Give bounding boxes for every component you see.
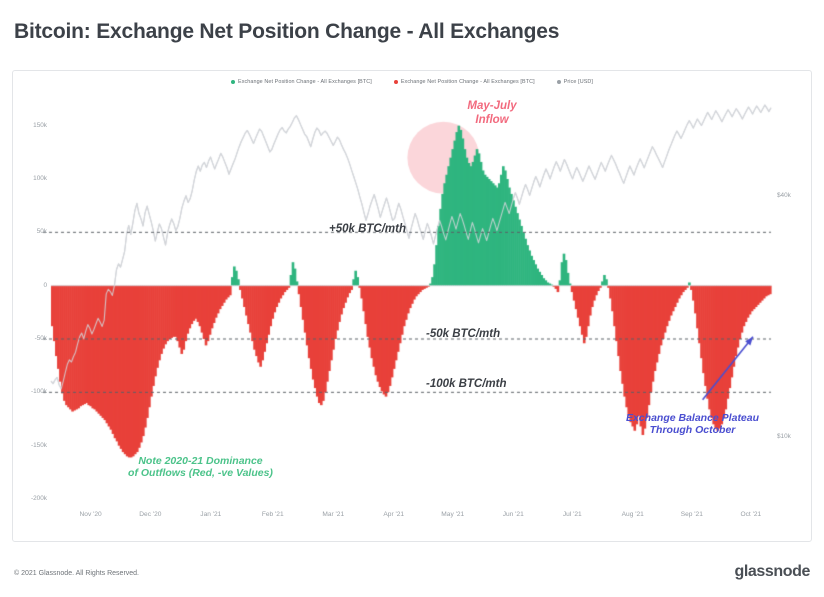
y-axis-tick-label: -150k — [17, 442, 47, 449]
y-axis-tick-label: -100k — [17, 388, 47, 395]
price-axis-tick-label: $40k — [777, 192, 791, 199]
x-axis-tick-label: Feb '21 — [262, 511, 284, 518]
chart-plot-canvas — [13, 71, 811, 541]
x-axis-tick-label: Dec '20 — [139, 511, 161, 518]
y-axis-tick-label: 0 — [17, 282, 47, 289]
y-axis-tick-label: 50k — [17, 228, 47, 235]
x-axis-tick-label: Jul '21 — [563, 511, 582, 518]
glassnode-logo: glassnode — [734, 563, 810, 581]
y-axis-tick-label: 100k — [17, 175, 47, 182]
footer-copyright: © 2021 Glassnode. All Rights Reserved. — [14, 570, 139, 577]
y-axis-tick-label: -50k — [17, 335, 47, 342]
x-axis-tick-label: Jun '21 — [503, 511, 524, 518]
y-axis-tick-label: -200k — [17, 495, 47, 502]
y-axis-tick-label: 150k — [17, 122, 47, 129]
page-title: Bitcoin: Exchange Net Position Change - … — [14, 20, 559, 44]
x-axis-tick-label: Aug '21 — [622, 511, 644, 518]
price-axis-tick-label: $10k — [777, 433, 791, 440]
x-axis-tick-label: May '21 — [441, 511, 464, 518]
x-axis-tick-label: Mar '21 — [322, 511, 344, 518]
x-axis-tick-label: Jan '21 — [200, 511, 221, 518]
x-axis-tick-label: Nov '20 — [80, 511, 102, 518]
x-axis-tick-label: Apr '21 — [383, 511, 404, 518]
chart-card: Exchange Net Position Change - All Excha… — [12, 70, 812, 542]
x-axis-tick-label: Oct '21 — [740, 511, 761, 518]
x-axis-tick-label: Sep '21 — [681, 511, 703, 518]
chart-page: Bitcoin: Exchange Net Position Change - … — [0, 0, 824, 597]
